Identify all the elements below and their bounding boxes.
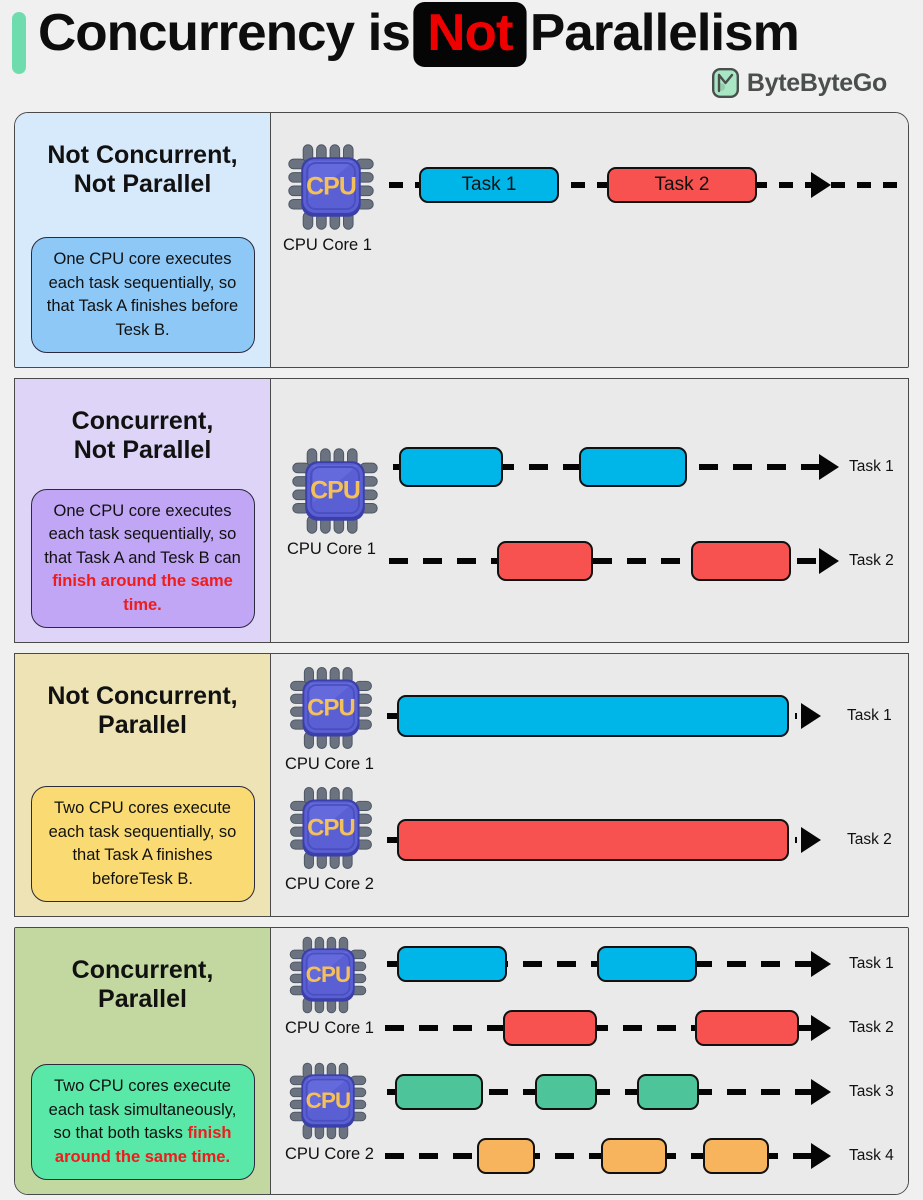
description-text: One CPU core executes each task sequenti…: [47, 250, 238, 338]
track-label: Task 2: [849, 552, 894, 570]
panel-not-concurrent-parallel: Not Concurrent, ParallelTwo CPU cores ex…: [14, 653, 909, 917]
task-bar: [601, 1138, 667, 1174]
cpu-core-label: CPU Core 2: [285, 875, 377, 894]
cpu-core-1: CPU CPU Core 1: [287, 443, 383, 559]
track-label: Task 2: [849, 1019, 894, 1037]
title-highlight-not: Not: [413, 2, 527, 67]
panel-description: One CPU core executes each task sequenti…: [31, 489, 255, 628]
task-bar-label: Task 1: [462, 174, 517, 196]
task-bar: [703, 1138, 769, 1174]
panel-diagram-concurrent-parallel: CPU CPU Core 1 CPU CPU Core 2Task 1Task …: [271, 928, 908, 1194]
timeline-arrow-icon: [811, 1143, 831, 1169]
task-bar: [477, 1138, 535, 1174]
cpu-core-1: CPU CPU Core 1: [285, 932, 374, 1038]
timeline-arrow-icon: [819, 548, 839, 574]
svg-text:CPU: CPU: [307, 694, 355, 721]
task-bar: [695, 1010, 799, 1046]
panel-concurrent-not-parallel: Concurrent, Not ParallelOne CPU core exe…: [14, 378, 909, 643]
task-bar: [397, 695, 789, 737]
timeline-arrow-icon: [811, 172, 831, 198]
cpu-chip-icon: CPU: [285, 1058, 371, 1144]
brand-name: ByteByteGo: [747, 69, 887, 98]
track-label: Task 1: [847, 707, 892, 725]
panel-list: Not Concurrent, Not ParallelOne CPU core…: [14, 112, 909, 1195]
task-bar: [637, 1074, 699, 1110]
cpu-core-2: CPU CPU Core 2: [285, 1058, 374, 1164]
panel-title: Concurrent, Not Parallel: [72, 407, 214, 465]
timeline-arrow-icon: [801, 827, 821, 853]
panel-not-concurrent-not-parallel: Not Concurrent, Not ParallelOne CPU core…: [14, 112, 909, 368]
task-bar: [691, 541, 791, 581]
svg-text:CPU: CPU: [306, 1088, 351, 1113]
panel-description: Two CPU cores execute each task sequenti…: [31, 786, 255, 902]
cpu-core-2: CPU CPU Core 2: [285, 782, 377, 894]
description-text: Two CPU cores execute each task sequenti…: [49, 799, 237, 887]
timeline-arrow-icon: [811, 1015, 831, 1041]
svg-text:CPU: CPU: [306, 173, 356, 201]
task-bar: [399, 447, 503, 487]
cpu-core-label: CPU Core 1: [283, 236, 379, 255]
task-bar: [497, 541, 593, 581]
svg-text:CPU: CPU: [310, 477, 360, 505]
timeline-arrow-icon: [801, 703, 821, 729]
page-title: Concurrency isNotParallelism: [38, 2, 799, 67]
cpu-core-label: CPU Core 1: [287, 540, 383, 559]
panel-left-concurrent-not-parallel: Concurrent, Not ParallelOne CPU core exe…: [15, 379, 271, 642]
task-bar: Task 2: [607, 167, 757, 203]
title-part-2: Parallelism: [530, 4, 799, 62]
description-text: One CPU core executes each task sequenti…: [44, 502, 241, 567]
cpu-chip-icon: CPU: [283, 139, 379, 235]
panel-diagram-not-concurrent-parallel: CPU CPU Core 1 CPU CPU Core 2Task 1Task …: [271, 654, 908, 916]
cpu-core-label: CPU Core 1: [285, 755, 377, 774]
task-bar: [597, 946, 697, 982]
panel-title: Not Concurrent, Not Parallel: [47, 141, 237, 199]
track-label: Task 1: [849, 955, 894, 973]
panel-title: Concurrent, Parallel: [72, 956, 214, 1014]
panel-description: Two CPU cores execute each task simultan…: [31, 1064, 255, 1180]
track-label: Task 1: [849, 458, 894, 476]
cpu-core-1: CPU CPU Core 1: [285, 662, 377, 774]
header: Concurrency isNotParallelism ByteByteGo: [0, 0, 923, 112]
cpu-chip-icon: CPU: [285, 782, 377, 874]
panel-left-not-concurrent-parallel: Not Concurrent, ParallelTwo CPU cores ex…: [15, 654, 271, 916]
task-bar-label: Task 2: [655, 174, 710, 196]
accent-bar: [12, 12, 26, 74]
bytebytego-mark-icon: [712, 68, 739, 98]
task-bar: Task 1: [419, 167, 559, 203]
cpu-core-label: CPU Core 1: [285, 1019, 374, 1038]
panel-title: Not Concurrent, Parallel: [47, 682, 237, 740]
panel-description: One CPU core executes each task sequenti…: [31, 237, 255, 353]
svg-text:CPU: CPU: [306, 962, 351, 987]
cpu-core-label: CPU Core 2: [285, 1145, 374, 1164]
task-bar: [535, 1074, 597, 1110]
track-label: Task 2: [847, 831, 892, 849]
track-label: Task 3: [849, 1083, 894, 1101]
task-bar: [395, 1074, 483, 1110]
cpu-chip-icon: CPU: [285, 662, 377, 754]
svg-text:CPU: CPU: [307, 814, 355, 841]
cpu-core-1: CPU CPU Core 1: [283, 139, 379, 255]
task-bar: [397, 946, 507, 982]
task-bar: [503, 1010, 597, 1046]
cpu-chip-icon: CPU: [285, 932, 371, 1018]
title-part-1: Concurrency is: [38, 4, 410, 62]
panel-diagram-not-concurrent-not-parallel: CPU CPU Core 1Task 1Task 2: [271, 113, 908, 367]
task-bar: [579, 447, 687, 487]
track-label: Task 4: [849, 1147, 894, 1165]
panel-concurrent-parallel: Concurrent, ParallelTwo CPU cores execut…: [14, 927, 909, 1195]
timeline-arrow-icon: [819, 454, 839, 480]
task-bar: [397, 819, 789, 861]
timeline-arrow-icon: [811, 1079, 831, 1105]
panel-left-concurrent-parallel: Concurrent, ParallelTwo CPU cores execut…: [15, 928, 271, 1194]
cpu-chip-icon: CPU: [287, 443, 383, 539]
description-highlight: finish around the same time.: [52, 572, 233, 613]
timeline-arrow-icon: [811, 951, 831, 977]
panel-left-not-concurrent-not-parallel: Not Concurrent, Not ParallelOne CPU core…: [15, 113, 271, 367]
brand-logo: ByteByteGo: [712, 68, 887, 98]
panel-diagram-concurrent-not-parallel: CPU CPU Core 1Task 1Task 2: [271, 379, 908, 642]
